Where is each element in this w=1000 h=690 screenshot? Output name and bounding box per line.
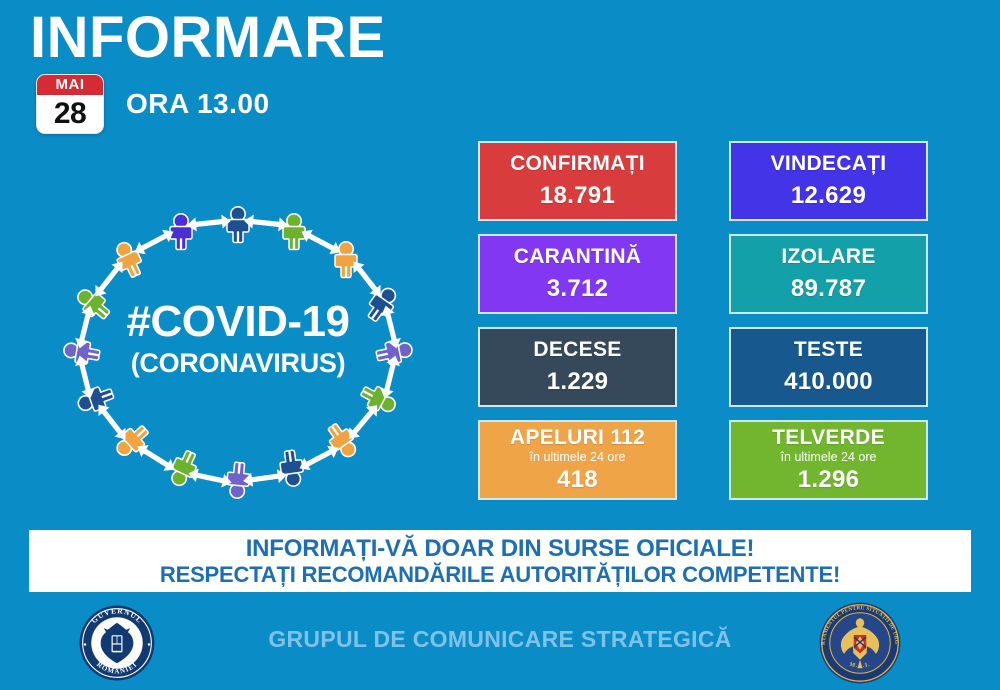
banner-line-2: RESPECTAȚI RECOMANDĂRILE AUTORITĂȚILOR C… [160, 562, 840, 587]
covid-circle-illustration: #COVID-19 (CORONAVIRUS) [28, 160, 448, 520]
informare-poster: INFORMARE MAI 28 ORA 13.00 [0, 0, 1000, 688]
stat-box-izolare: IZOLARE89.787 [729, 234, 928, 314]
stat-value: 12.629 [791, 182, 866, 210]
stat-value: 3.712 [547, 275, 609, 303]
stat-value: 18.791 [540, 182, 615, 210]
stat-box-apeluri-112: APELURI 112în ultimele 24 ore418 [478, 420, 677, 500]
stat-label: TESTE [794, 338, 863, 361]
stat-label: DECESE [533, 338, 621, 361]
stat-box-teste: TESTE410.000 [729, 327, 928, 407]
stat-box-carantina: CARANTINĂ3.712 [478, 234, 677, 314]
stat-note: în ultimele 24 ore [781, 450, 877, 464]
stat-label: APELURI 112 [510, 426, 645, 449]
stat-label: IZOLARE [781, 245, 875, 268]
stat-label: TELVERDE [772, 426, 885, 449]
stat-box-vindecati: VINDECAȚI12.629 [729, 141, 928, 221]
hour-label: ORA 13.00 [126, 88, 270, 120]
people-circle-arrows-icon [28, 160, 448, 520]
calendar-month: MAI [37, 75, 103, 95]
stat-value: 89.787 [791, 275, 866, 303]
official-sources-banner: INFORMAȚI-VĂ DOAR DIN SURSE OFICIALE! RE… [29, 530, 971, 592]
date-row: MAI 28 ORA 13.00 [36, 74, 270, 134]
stat-label: VINDECAȚI [771, 152, 887, 175]
stat-value: 1.229 [547, 368, 609, 396]
calendar-day: 28 [37, 95, 103, 133]
stat-box-confirmati: CONFIRMAȚI18.791 [478, 141, 677, 221]
stat-box-telverde: TELVERDEîn ultimele 24 ore1.296 [729, 420, 928, 500]
page-title: INFORMARE [30, 6, 386, 70]
stat-value: 418 [557, 466, 598, 494]
banner-line-1: INFORMAȚI-VĂ DOAR DIN SURSE OFICIALE! [246, 535, 755, 563]
statistics-grid: CONFIRMAȚI18.791VINDECAȚI12.629CARANTINĂ… [478, 141, 930, 500]
stat-note: în ultimele 24 ore [530, 450, 626, 464]
stat-value: 1.296 [798, 466, 860, 494]
stat-box-decese: DECESE1.229 [478, 327, 677, 407]
footer: GUVERNUL ROMÂNIEI [0, 600, 1000, 688]
dsu-mai-seal-icon: DEPARTAMENTUL PENTRU SITUAȚII DE URGENȚĂ… [818, 601, 902, 690]
calendar-icon: MAI 28 [36, 74, 104, 134]
stat-label: CARANTINĂ [514, 245, 642, 268]
stat-label: CONFIRMAȚI [510, 152, 645, 175]
stat-value: 410.000 [784, 368, 873, 396]
